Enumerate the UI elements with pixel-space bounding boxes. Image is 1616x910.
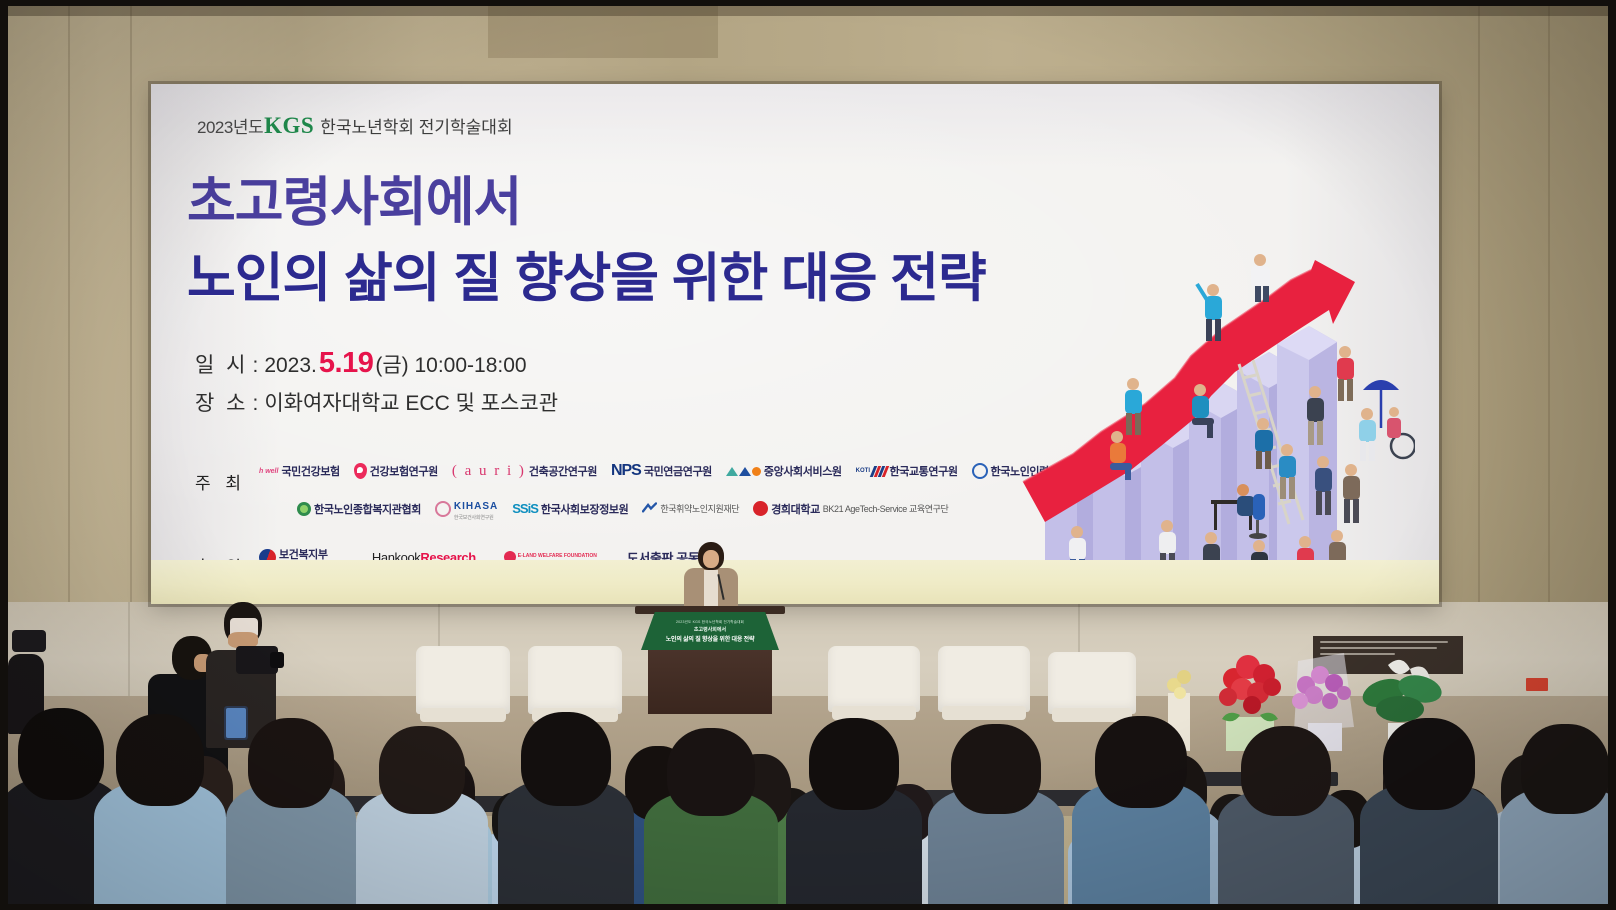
hosts-label: 주 최 <box>195 469 246 494</box>
logo-pharma-senior-foundation: 한국휘약노인지원재단 <box>642 502 739 515</box>
person-head <box>248 718 334 808</box>
logo-khu: 경희대학교 BK21 AgeTech-Service 교육연구단 <box>753 501 948 517</box>
person-head <box>1095 716 1187 808</box>
person-head <box>1241 726 1331 816</box>
swoosh-icon <box>642 502 657 515</box>
date-separator: : <box>252 354 258 378</box>
audience-member <box>928 724 1064 904</box>
ring-icon <box>972 463 988 479</box>
slide-title-line1: 초고령사회에서 <box>187 160 521 236</box>
hosts-row-1: h well 국민건강보험 건강보험연구원 ( a u r i ) 건축공간연구… <box>259 462 1092 480</box>
date-highlight: 5.19 <box>319 347 373 380</box>
ceiling-edge <box>8 6 1608 16</box>
slide-date-line: 일 시 : 2023. 5.19 (금) 10:00-18:00 <box>195 347 527 380</box>
logo-label: E-LAND WELFARE FOUNDATION <box>518 554 597 559</box>
logo-health-insurance-research: 건강보험연구원 <box>354 463 438 479</box>
auri-icon: ( a u r i ) <box>452 463 526 480</box>
illustration-svg <box>1015 232 1415 582</box>
hwell-icon: h well <box>259 468 278 475</box>
logo-label: 국민연금연구원 <box>644 463 712 479</box>
audience-member <box>498 712 634 904</box>
kicker-rest: 한국노년학회 전기학술대회 <box>320 113 512 138</box>
person-head <box>951 724 1041 814</box>
khu-emblem-icon <box>753 501 768 516</box>
ssis-icon: SSiS <box>512 501 538 516</box>
logo-sublabel: 한국보건사회연구원 <box>454 514 498 521</box>
person-head <box>1383 718 1475 810</box>
date-year: 2023. <box>264 354 317 378</box>
slide-bottom-band <box>151 560 1439 604</box>
logo-label: 중앙사회서비스원 <box>764 463 842 479</box>
person-head <box>521 712 611 806</box>
logo-ssis: SSiS 한국사회보장정보원 <box>512 501 628 517</box>
location-pin-icon <box>354 463 367 479</box>
venue-value: 이화여자대학교 ECC 및 포스코관 <box>264 387 558 417</box>
koti-stripes-icon <box>870 466 889 477</box>
slide-title-line2: 노인의 삶의 질 향상을 위한 대응 전략 <box>187 236 986 312</box>
person-head <box>18 708 104 800</box>
slide: 2023년도 KGS 한국노년학회 전기학술대회 초고령사회에서 노인의 삶의 … <box>151 84 1439 604</box>
kihasa-ring-icon <box>435 501 451 517</box>
audience-member <box>1218 726 1354 904</box>
logo-label: 한국교통연구원 <box>890 463 958 479</box>
chevrons-icon <box>726 467 761 476</box>
koti-icon: KOTI <box>856 466 887 477</box>
audience-member <box>356 726 488 904</box>
audience-member <box>644 728 778 904</box>
kicker-kgs-logo: KGS <box>264 113 314 139</box>
leaf-icon <box>297 502 311 516</box>
logo-koti: KOTI 한국교통연구원 <box>856 463 958 479</box>
person-on-arrow-upper <box>1197 284 1222 341</box>
logo-auri: ( a u r i ) 건축공간연구원 <box>452 463 597 480</box>
date-suffix: (금) 10:00-18:00 <box>375 349 526 379</box>
speaker-face <box>703 550 719 568</box>
photo-inner: 2023년도 KGS 한국노년학회 전기학술대회 초고령사회에서 노인의 삶의 … <box>8 6 1608 904</box>
person-head <box>809 718 899 810</box>
logo-label: 건강보험연구원 <box>370 463 438 479</box>
phone-screen <box>226 708 246 738</box>
logo-nhis: h well 국민건강보험 <box>259 463 340 479</box>
logo-label: 국민건강보험 <box>281 463 339 479</box>
audience-member <box>1500 724 1608 904</box>
conference-photo: 2023년도 KGS 한국노년학회 전기학술대회 초고령사회에서 노인의 삶의 … <box>0 0 1616 910</box>
person-head <box>379 726 465 814</box>
audience-member <box>1072 716 1210 904</box>
date-label: 일 시 <box>195 349 248 379</box>
logo-label: 한국휘약노인지원재단 <box>660 502 739 515</box>
growth-arrow-illustration <box>1015 232 1415 582</box>
logo-kihasa: KIHASA 한국보건사회연구원 <box>435 496 498 521</box>
logo-label: 건축공간연구원 <box>529 463 597 479</box>
hosts-row-2: 한국노인종합복지관협회 KIHASA 한국보건사회연구원 SSiS 한국사회보장… <box>297 496 962 521</box>
audience-member <box>1360 718 1498 904</box>
logo-label: KIHASA <box>454 501 498 512</box>
logo-sublabel: BK21 AgeTech-Service 교육연구단 <box>823 502 949 515</box>
slide-kicker: 2023년도 KGS 한국노년학회 전기학술대회 <box>197 113 513 139</box>
slide-venue-line: 장 소 : 이화여자대학교 ECC 및 포스코관 <box>195 387 558 417</box>
audience-member <box>226 718 356 904</box>
umbrella-and-wheelchair-group <box>1359 380 1415 461</box>
kicker-year: 2023년도 <box>197 113 263 138</box>
smartphone-icon <box>224 706 248 740</box>
venue-separator: : <box>252 392 258 416</box>
venue-label: 장 소 <box>195 387 248 417</box>
audience <box>8 604 1608 904</box>
person-on-arrow-top <box>1251 254 1270 302</box>
person-head <box>116 714 204 806</box>
logo-nps: NPS 국민연금연구원 <box>611 462 712 480</box>
person-head <box>667 728 755 816</box>
logo-central-social-service: 중앙사회서비스원 <box>726 463 842 479</box>
logo-label: 한국사회보장정보원 <box>541 501 628 517</box>
person-head <box>1521 724 1608 814</box>
logo-label: 경희대학교 <box>771 501 820 517</box>
kihasa-block: KIHASA 한국보건사회연구원 <box>454 496 498 521</box>
logo-senior-welfare-center-assoc: 한국노인종합복지관협회 <box>297 501 421 517</box>
projection-screen: 2023년도 KGS 한국노년학회 전기학술대회 초고령사회에서 노인의 삶의 … <box>151 84 1439 604</box>
nps-icon: NPS <box>611 462 641 480</box>
logo-label: 한국노인종합복지관협회 <box>314 501 421 517</box>
audience-member <box>94 714 226 904</box>
koti-abbr: KOTI <box>856 468 870 474</box>
audience-member <box>786 718 922 904</box>
